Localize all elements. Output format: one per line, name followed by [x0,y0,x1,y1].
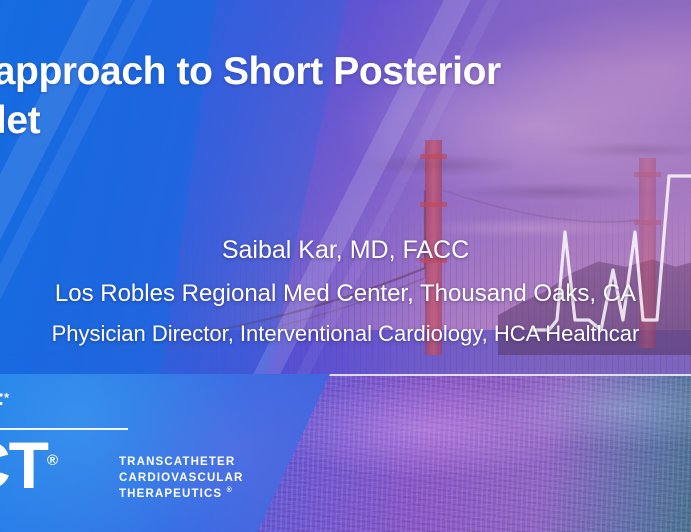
tct-text: CT [0,428,47,502]
tct-registered-mark: ® [47,452,58,469]
tagline-line-3: Therapeutics ® [119,486,244,502]
crf-wordmark: RF* [0,388,10,419]
title-slide: y approach to Short Posterior aflet Saib… [0,0,691,532]
presenter-affiliation: Los Robles Regional Med Center, Thousand… [0,280,691,308]
tagline-line-2: Cardiovascular [119,471,244,487]
tagline-line-3-text: Therapeutics [119,488,222,500]
crf-trademark: * [4,390,10,405]
presenter-role: Physician Director, Interventional Cardi… [0,321,691,347]
ecg-waveform-icon [531,170,691,380]
page-title: y approach to Short Posterior aflet [0,47,691,145]
tagline-line-1: Transcatheter [119,455,244,471]
tagline-registered-mark: ® [227,487,233,494]
tct-logo-lockup: RF* CT® Transcatheter Cardiovascular The… [0,388,297,508]
presenter-name: Saibal Kar, MD, FACC [0,236,691,265]
tct-tagline: Transcatheter Cardiovascular Therapeutic… [119,455,244,502]
tct-wordmark: CT® [0,432,58,498]
